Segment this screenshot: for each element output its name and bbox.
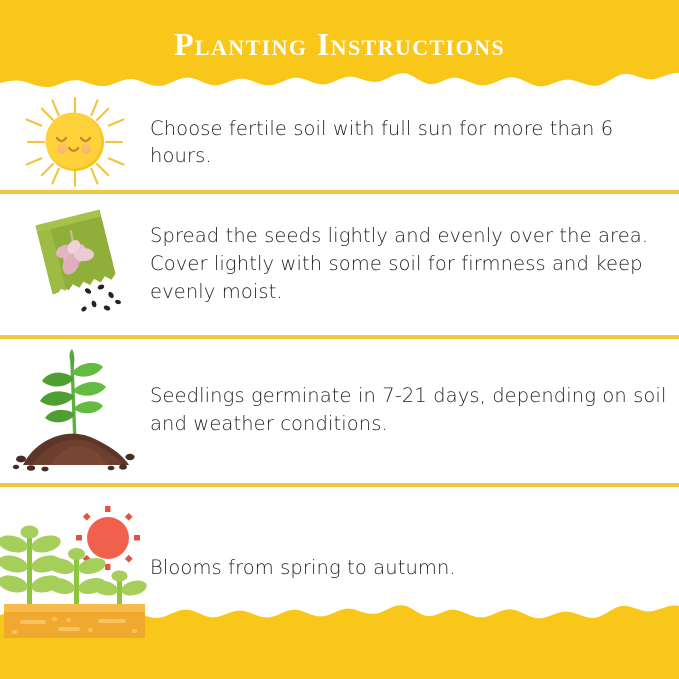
step-4-text: Blooms from spring to autumn. <box>150 492 679 581</box>
step-row-3: Seedlings germinate in 7-21 days, depend… <box>0 340 679 480</box>
step-row-1: Choose fertile soil with full sun for mo… <box>0 96 679 188</box>
seed-packet-icon <box>15 205 135 323</box>
step-row-2: Spread the seeds lightly and evenly over… <box>0 196 679 332</box>
step-1-line-1: Choose fertile soil with full sun for mo… <box>150 115 669 169</box>
step-4-line-1: Blooms from spring to autumn. <box>150 554 669 581</box>
growing-plants-with-sun-icon <box>0 498 150 638</box>
seedling-in-soil-icon <box>11 347 139 473</box>
step-2-line-2: Cover lightly with some soil for firmnes… <box>150 250 669 278</box>
step-1-text: Choose fertile soil with full sun for mo… <box>150 115 679 169</box>
step-2-line-1: Spread the seeds lightly and evenly over… <box>150 222 669 250</box>
divider-2 <box>0 335 679 339</box>
step-2-line-3: evenly moist. <box>150 278 669 306</box>
page-title: Planting Instructions <box>0 25 679 63</box>
step-4-icon-cell <box>0 492 150 638</box>
step-3-text: Seedlings germinate in 7-21 days, depend… <box>150 382 679 438</box>
smiling-sun-icon <box>16 92 134 192</box>
divider-3 <box>0 483 679 487</box>
step-3-icon-cell <box>0 347 150 473</box>
planting-instructions-infographic: Planting Instructions <box>0 0 679 679</box>
soil-bed <box>4 604 145 638</box>
step-2-icon-cell <box>0 205 150 323</box>
step-row-4: Blooms from spring to autumn. <box>0 492 679 652</box>
step-1-icon-cell <box>0 92 150 192</box>
step-3-line-1: Seedlings germinate in 7-21 days, depend… <box>150 382 669 410</box>
header-band: Planting Instructions <box>0 0 679 92</box>
step-2-text: Spread the seeds lightly and evenly over… <box>150 222 679 306</box>
step-3-line-2: and weather conditions. <box>150 410 669 438</box>
